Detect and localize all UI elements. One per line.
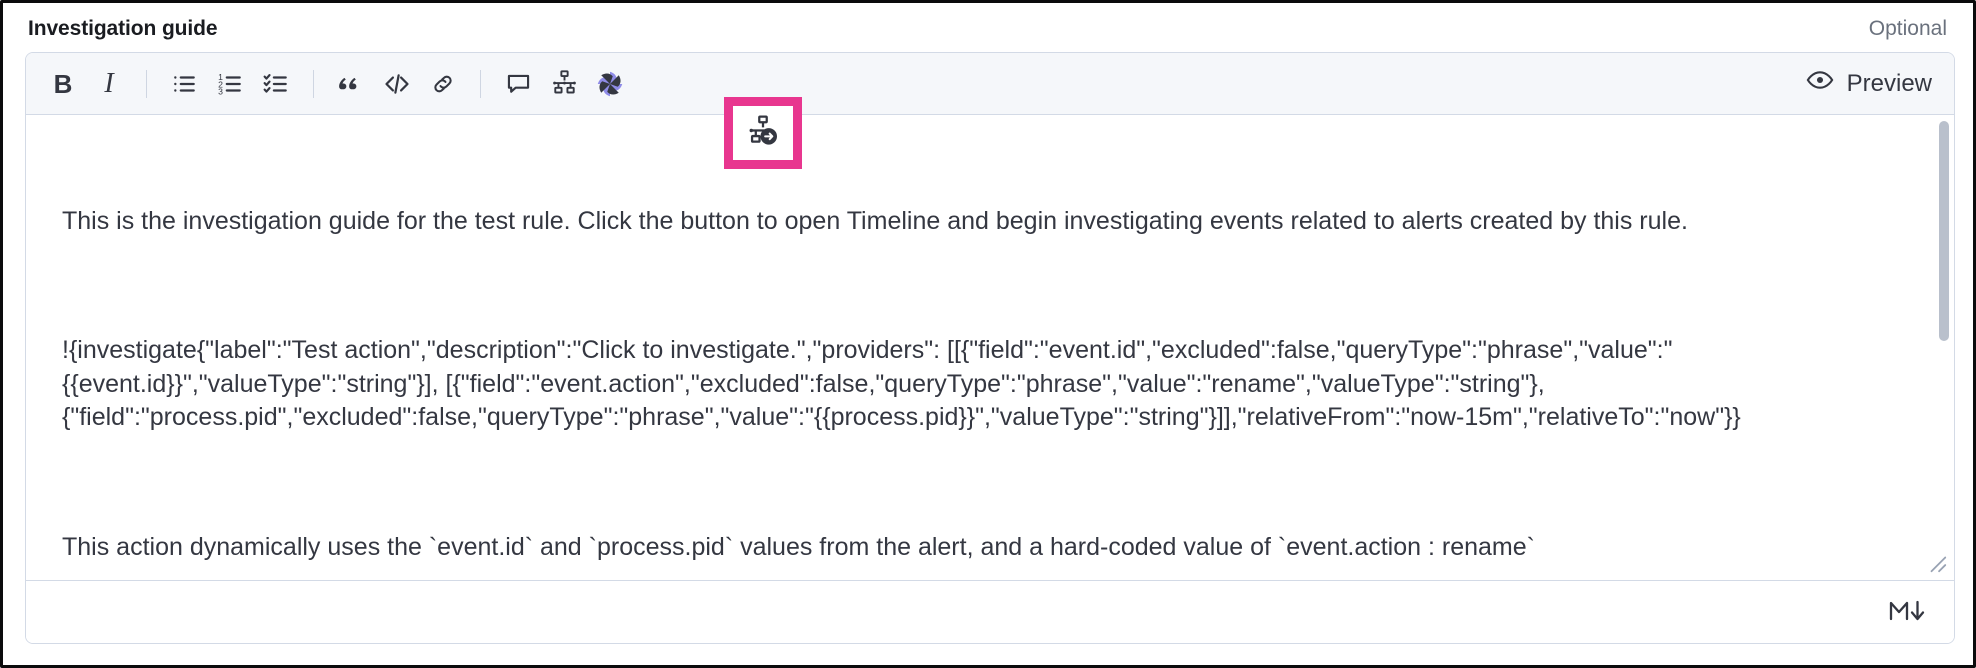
link-button[interactable] — [420, 61, 466, 107]
field-header: Investigation guide Optional — [3, 3, 1973, 55]
editor-paragraph: This is the investigation guide for the … — [62, 205, 1832, 239]
resize-handle[interactable] — [1926, 552, 1948, 574]
screenshot-frame: Investigation guide Optional B I — [0, 0, 1976, 668]
insert-timeline-button[interactable] — [541, 61, 587, 107]
preview-button[interactable]: Preview — [1796, 62, 1942, 105]
quote-icon — [337, 70, 365, 98]
unordered-list-icon — [171, 71, 197, 97]
code-icon — [383, 70, 411, 98]
editor-toolbar: B I — [26, 53, 1954, 115]
editor-content[interactable]: This is the investigation guide for the … — [26, 115, 1866, 580]
comment-icon — [505, 70, 532, 97]
unordered-list-button[interactable] — [161, 61, 207, 107]
eye-icon — [1806, 66, 1834, 101]
page-title: Investigation guide — [28, 17, 217, 41]
toolbar-group-lists: 1 2 3 — [161, 61, 299, 107]
toolbar-group-plugins — [495, 61, 679, 107]
markdown-editor: B I — [25, 52, 1955, 644]
optional-badge: Optional — [1869, 17, 1947, 41]
italic-button[interactable]: I — [86, 61, 132, 107]
toolbar-group-blocks — [328, 61, 466, 107]
task-list-icon — [263, 71, 289, 97]
osquery-icon — [595, 69, 625, 99]
task-list-button[interactable] — [253, 61, 299, 107]
markdown-help-button[interactable] — [1884, 594, 1932, 631]
preview-label: Preview — [1847, 70, 1932, 98]
ordered-list-icon: 1 2 3 — [217, 71, 243, 97]
code-button[interactable] — [374, 61, 420, 107]
toolbar-separator-3 — [480, 70, 481, 98]
toolbar-separator-2 — [313, 70, 314, 98]
ordered-list-button[interactable]: 1 2 3 — [207, 61, 253, 107]
toolbar-group-text-style: B I — [40, 61, 132, 107]
highlight-annotation — [724, 97, 802, 169]
quote-button[interactable] — [328, 61, 374, 107]
editor-paragraph: !{investigate{"label":"Test action","des… — [62, 334, 1832, 435]
editor-paragraph: This action dynamically uses the `event.… — [62, 531, 1832, 565]
osquery-button[interactable] — [587, 61, 633, 107]
editor-scrollbar-thumb[interactable] — [1939, 121, 1949, 341]
svg-text:3: 3 — [218, 86, 223, 96]
toolbar-separator-1 — [146, 70, 147, 98]
tooltip-button[interactable] — [495, 61, 541, 107]
investigate-action-icon[interactable] — [747, 115, 779, 152]
bold-button[interactable]: B — [40, 61, 86, 107]
editor-footer — [26, 580, 1954, 643]
bold-icon: B — [54, 71, 73, 97]
editor-textarea[interactable]: This is the investigation guide for the … — [26, 115, 1954, 580]
timeline-icon — [551, 70, 578, 97]
link-icon — [430, 71, 456, 97]
italic-icon: I — [104, 70, 113, 98]
markdown-icon — [1888, 598, 1928, 627]
